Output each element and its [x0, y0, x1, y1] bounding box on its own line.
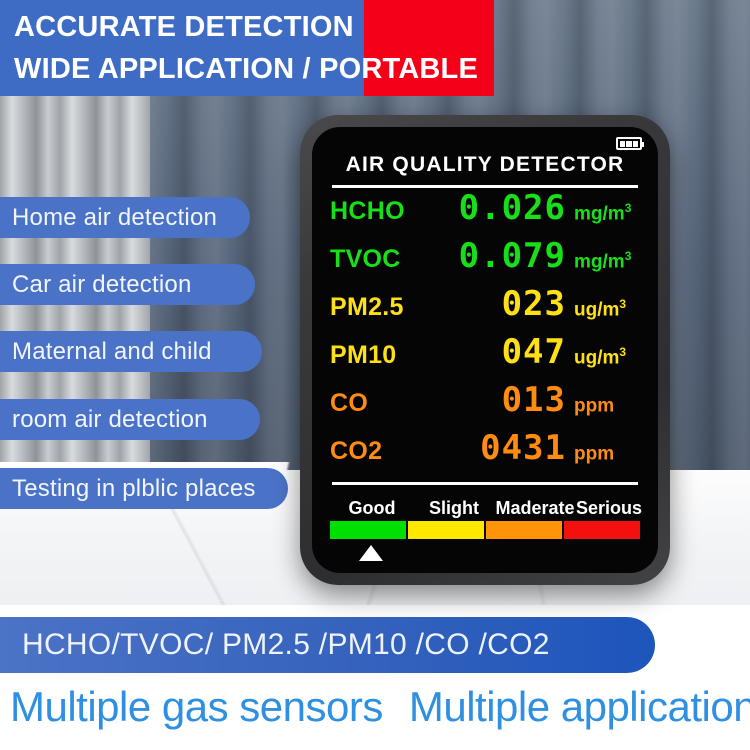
divider-bottom	[332, 482, 638, 485]
scale-segment-slight	[408, 521, 484, 539]
unit-exponent: 3	[619, 297, 626, 311]
feature-pill-label: room air detection	[12, 406, 208, 434]
feature-pill-label: Car air detection	[12, 271, 192, 299]
scale-label-serious: Serious	[576, 498, 640, 519]
reading-value: 0.079	[438, 239, 566, 273]
unit-text: ug/m	[574, 347, 619, 368]
air-quality-detector-device: AIR QUALITY DETECTOR HCHO 0.026 mg/m3 TV…	[300, 115, 670, 585]
readings-list: HCHO 0.026 mg/m3 TVOC 0.079 mg/m3 PM2.5 …	[312, 191, 658, 479]
tagline-right: Multiple application fields	[409, 683, 750, 731]
feature-pill-label: Testing in plblic places	[12, 475, 256, 503]
scale-label-slight: Slight	[414, 498, 494, 519]
unit-text: ug/m	[574, 299, 619, 320]
reading-label: PM10	[330, 341, 438, 370]
reading-unit: mg/m3	[566, 201, 644, 225]
scale-segment-serious	[564, 521, 640, 539]
feature-pill-public: Testing in plblic places	[0, 468, 288, 509]
battery-icon	[616, 137, 642, 150]
reading-value: 047	[438, 335, 566, 369]
air-quality-scale-labels: Good Slight Maderate Serious	[330, 489, 640, 519]
reading-value: 013	[438, 383, 566, 417]
scale-pointer-triangle-icon	[359, 545, 383, 561]
reading-unit: ug/m3	[566, 345, 644, 369]
reading-row-co2: CO2 0431 ppm	[312, 431, 658, 479]
reading-value: 0.026	[438, 191, 566, 225]
device-title: AIR QUALITY DETECTOR	[312, 153, 658, 177]
reading-unit: mg/m3	[566, 249, 644, 273]
unit-text: mg/m	[574, 203, 625, 224]
unit-exponent: 3	[625, 249, 632, 263]
reading-unit: ppm	[566, 393, 644, 417]
feature-pill-label: Maternal and child	[12, 338, 212, 366]
reading-row-tvoc: TVOC 0.079 mg/m3	[312, 239, 658, 287]
reading-value: 023	[438, 287, 566, 321]
scale-label-moderate: Maderate	[494, 498, 576, 519]
sensor-list-text: HCHO/TVOC/ PM2.5 /PM10 /CO /CO2	[22, 628, 550, 662]
tagline-row: Multiple gas sensors Multiple applicatio…	[0, 676, 750, 738]
feature-pill-car: Car air detection	[0, 264, 255, 305]
reading-value: 0431	[438, 431, 566, 465]
reading-label: TVOC	[330, 245, 438, 274]
air-quality-scale-bar	[330, 521, 640, 539]
unit-text: ppm	[574, 443, 614, 464]
scale-segment-moderate	[486, 521, 562, 539]
battery-bar	[626, 141, 631, 147]
reading-label: PM2.5	[330, 293, 438, 322]
unit-exponent: 3	[619, 345, 626, 359]
poster-stage: ACCURATE DETECTION WIDE APPLICATION / PO…	[0, 0, 750, 750]
battery-bar	[633, 141, 638, 147]
reading-row-co: CO 013 ppm	[312, 383, 658, 431]
scale-label-good: Good	[330, 498, 414, 519]
reading-label: HCHO	[330, 197, 438, 226]
reading-unit: ug/m3	[566, 297, 644, 321]
reading-label: CO2	[330, 437, 438, 466]
feature-pill-home: Home air detection	[0, 197, 250, 238]
feature-pill-label: Home air detection	[12, 204, 217, 232]
device-screen: AIR QUALITY DETECTOR HCHO 0.026 mg/m3 TV…	[312, 127, 658, 573]
feature-pill-maternal: Maternal and child	[0, 331, 262, 372]
top-banner-line2: WIDE APPLICATION / PORTABLE	[14, 48, 520, 90]
battery-bar	[620, 141, 625, 147]
reading-row-hcho: HCHO 0.026 mg/m3	[312, 191, 658, 239]
feature-pill-room: room air detection	[0, 399, 260, 440]
unit-text: ppm	[574, 395, 614, 416]
reading-unit: ppm	[566, 441, 644, 465]
top-banner-text: ACCURATE DETECTION WIDE APPLICATION / PO…	[0, 0, 520, 96]
reading-label: CO	[330, 389, 438, 418]
unit-exponent: 3	[625, 201, 632, 215]
top-banner-line1: ACCURATE DETECTION	[14, 6, 520, 48]
sensor-list-banner: HCHO/TVOC/ PM2.5 /PM10 /CO /CO2	[0, 617, 655, 673]
reading-row-pm10: PM10 047 ug/m3	[312, 335, 658, 383]
scale-segment-good	[330, 521, 406, 539]
unit-text: mg/m	[574, 251, 625, 272]
tagline-left: Multiple gas sensors	[10, 683, 383, 731]
reading-row-pm25: PM2.5 023 ug/m3	[312, 287, 658, 335]
